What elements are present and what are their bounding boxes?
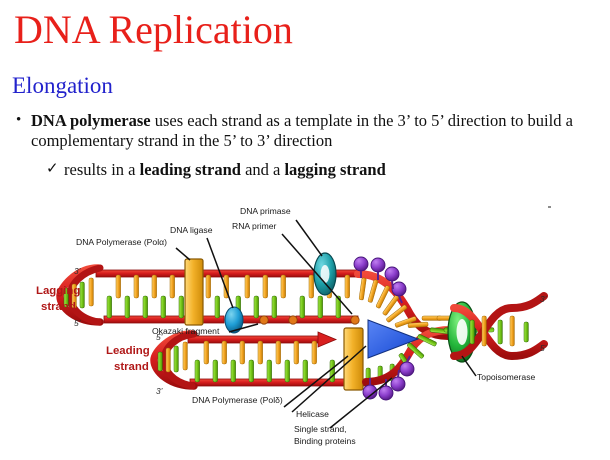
label-leading-strand-line1: Leading <box>106 345 150 357</box>
page-title: DNA Replication <box>14 6 293 54</box>
leading-strand-group <box>154 328 394 390</box>
sub-bullet-part2: and a <box>241 160 285 179</box>
leading-strand-term: leading strand <box>140 160 241 179</box>
label-parental-3prime-right: 3’ <box>540 294 547 304</box>
sub-bullet-part1: results in a <box>64 160 140 179</box>
leading-synthesis-arrow <box>318 332 336 347</box>
label-lagging-strand-line1: Lagging <box>36 285 80 297</box>
dna-replication-figure: DNA Polymerase (Polα) DNA ligase DNA pri… <box>0 196 610 460</box>
label-lagging-3prime-left: 3’ <box>74 266 81 276</box>
bullet-item: • DNA polymerase uses each strand as a t… <box>12 111 604 150</box>
label-dna-polymerase-delta: DNA Polymerase (Polδ) <box>192 395 283 405</box>
label-parental-5prime-right: 5’ <box>540 343 547 353</box>
dna-diagram-svg: DNA Polymerase (Polα) DNA ligase DNA pri… <box>0 196 610 460</box>
label-rna-primer: RNA primer <box>232 221 277 231</box>
sub-bullet-text: results in a leading strand and a laggin… <box>64 160 566 180</box>
dna-polymerase-alpha-icon <box>185 259 203 325</box>
label-helicase: Helicase <box>296 409 329 419</box>
slide-canvas: DNA Replication Elongation • DNA polymer… <box>0 0 610 460</box>
label-leading-strand-line2: strand <box>114 361 149 373</box>
label-lagging-5prime-left: 5’ <box>74 318 81 328</box>
sub-bullet-item: ✓ results in a leading strand and a lagg… <box>46 160 566 180</box>
stray-mark <box>548 206 551 208</box>
bullet-text: DNA polymerase uses each strand as a tem… <box>31 111 604 150</box>
label-dna-polymerase-alpha: DNA Polymerase (Polα) <box>76 237 167 247</box>
bullet-bold-term: DNA polymerase <box>31 111 151 130</box>
section-subtitle: Elongation <box>12 72 113 100</box>
label-leading-5prime-left: 5’ <box>156 332 163 342</box>
label-ssb-line1: Single strand, <box>294 424 347 434</box>
dna-polymerase-delta-icon <box>344 328 363 390</box>
okazaki-fragment-segment-3 <box>296 316 358 323</box>
label-dna-ligase: DNA ligase <box>170 225 213 235</box>
label-lagging-strand-line2: strand <box>41 301 76 313</box>
label-dna-primase: DNA primase <box>240 206 291 216</box>
lagging-strand-term: lagging strand <box>284 160 385 179</box>
bullet-marker: • <box>16 111 21 131</box>
label-ssb-line2: Binding proteins <box>294 436 356 446</box>
checkmark-icon: ✓ <box>46 159 59 179</box>
label-topoisomerase: Topoisomerase <box>477 372 535 382</box>
lagging-strand-group <box>60 253 364 333</box>
label-leading-3prime-left: 3’ <box>156 386 163 396</box>
